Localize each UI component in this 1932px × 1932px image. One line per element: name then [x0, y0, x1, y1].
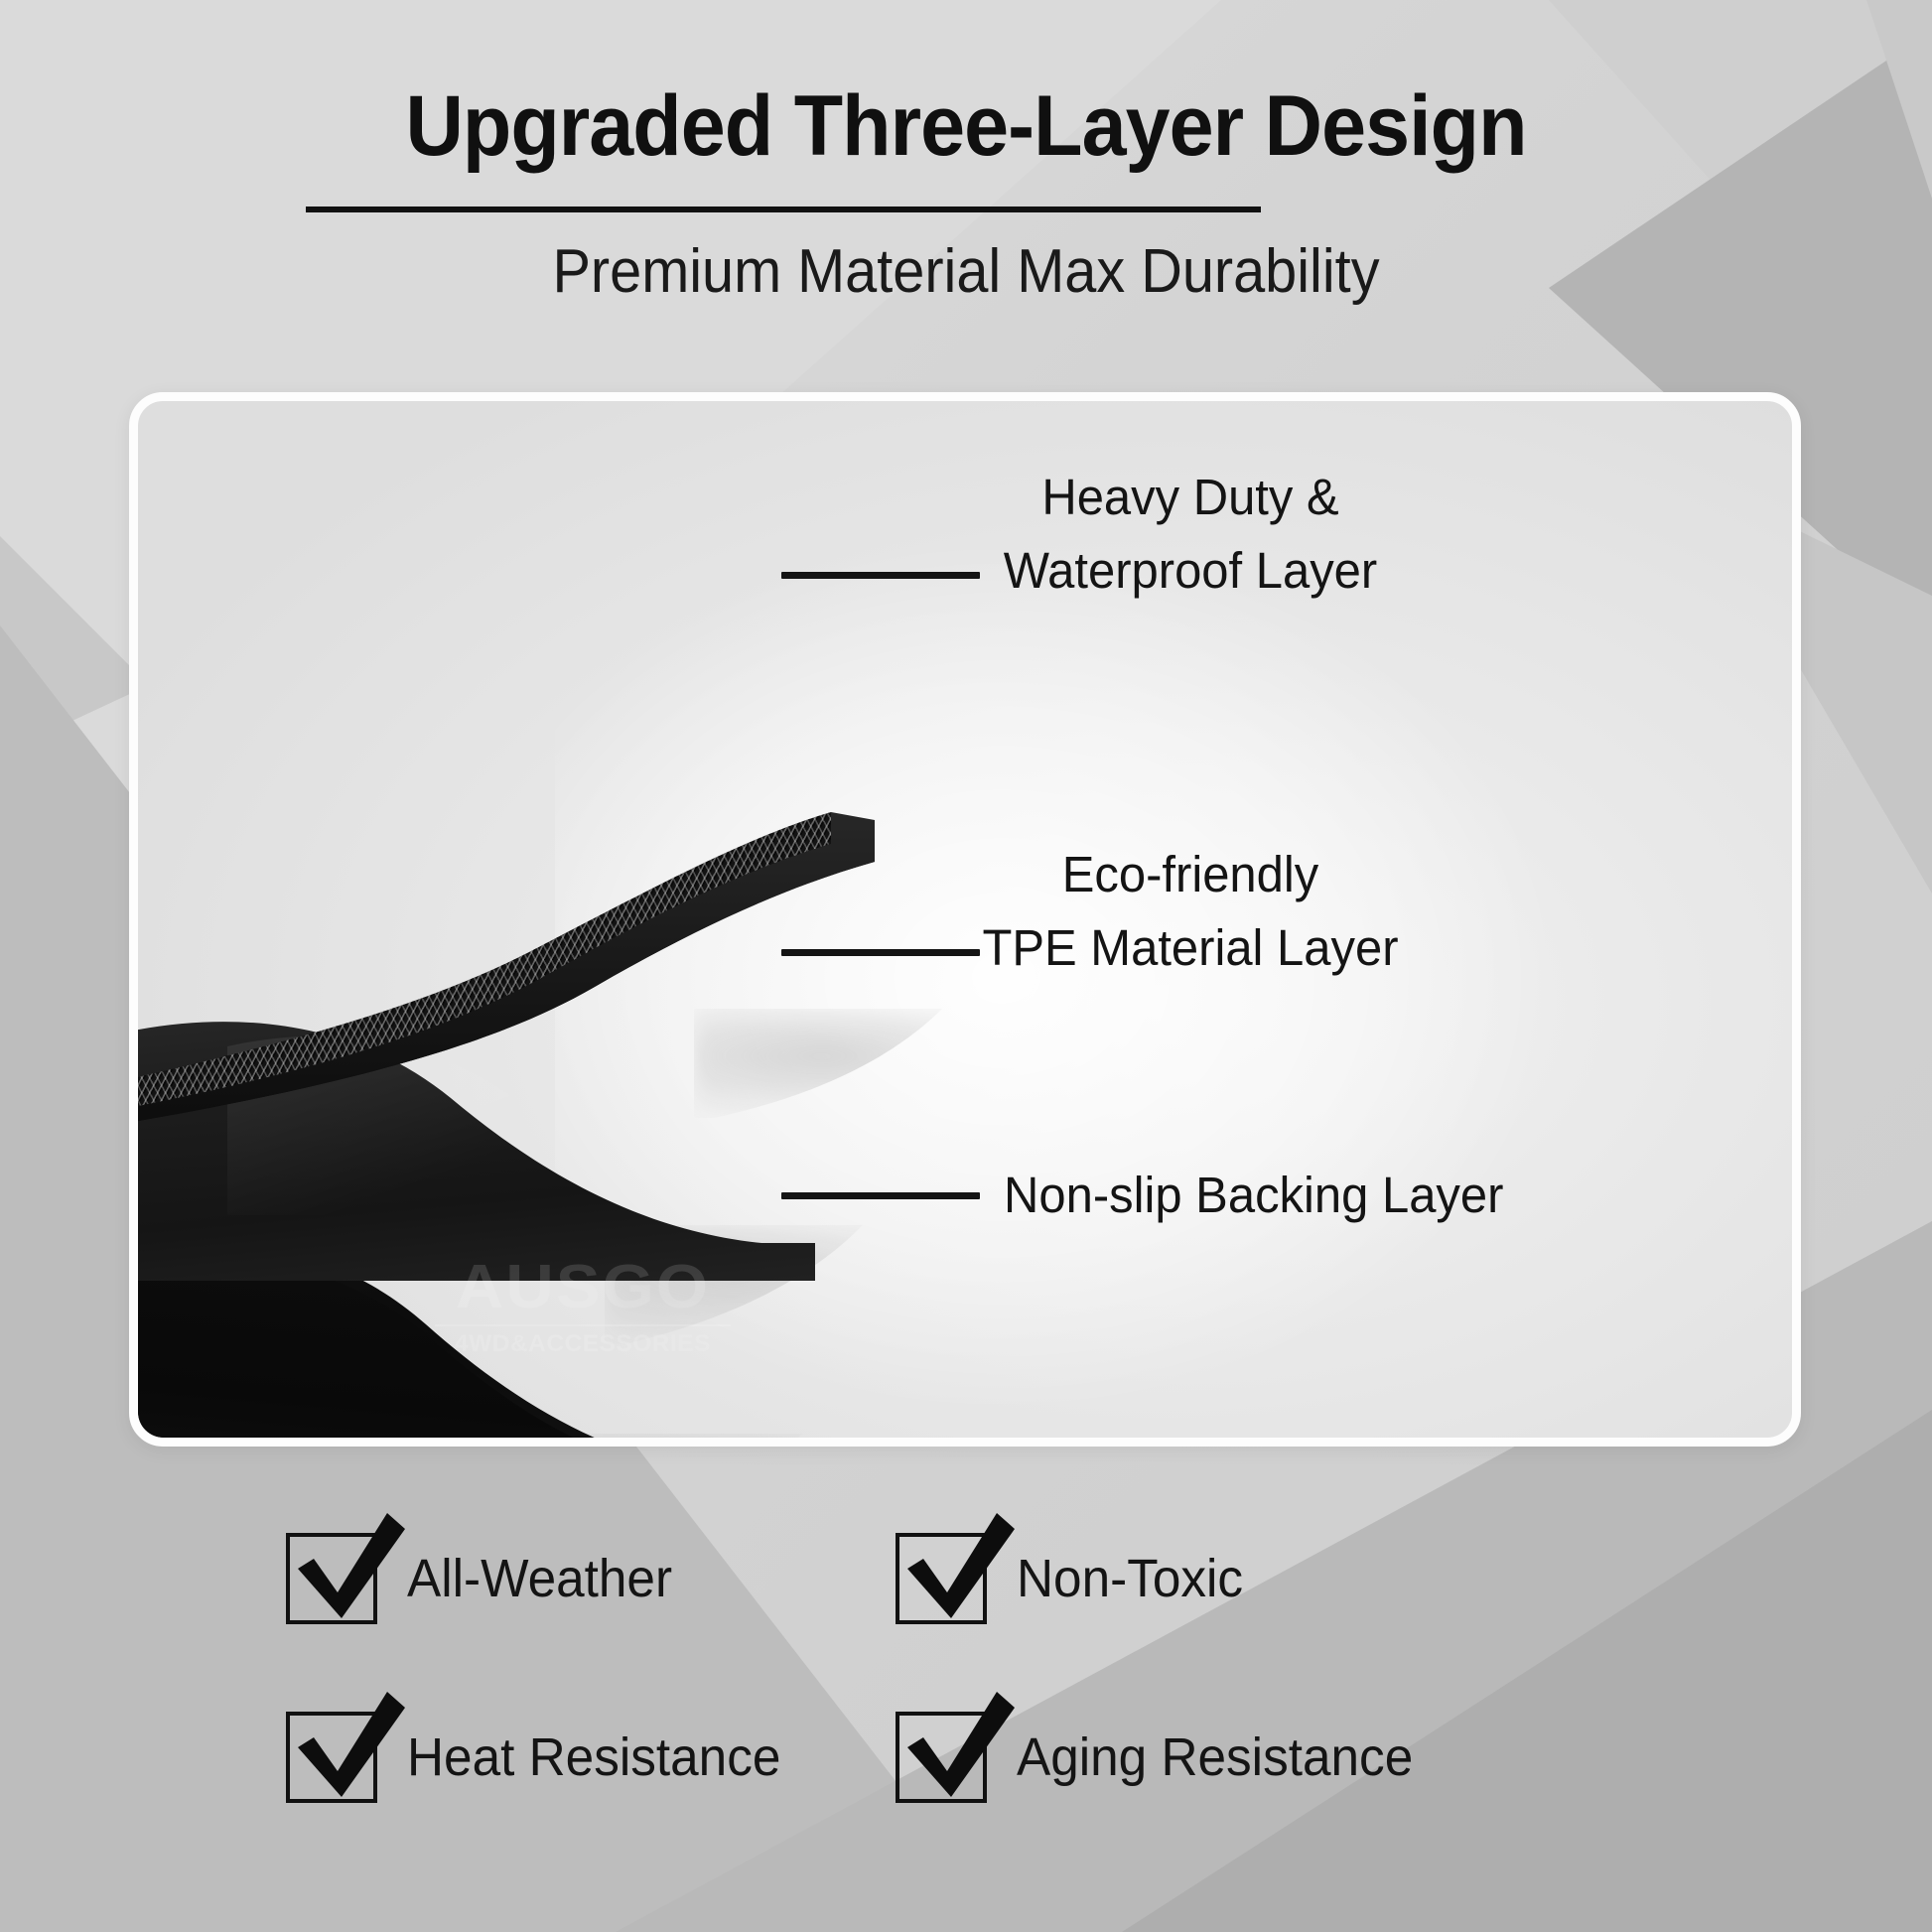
page-title: Upgraded Three-Layer Design — [58, 77, 1873, 176]
checkmark-icon — [284, 1507, 411, 1634]
feature-item-aging-resistance[interactable]: Aging Resistance — [896, 1712, 1434, 1803]
checkmark-icon — [894, 1686, 1021, 1813]
feature-label-all-weather: All-Weather — [407, 1548, 672, 1609]
card-inner: AUSGO 4WD&ACCESSORIES Heavy Duty & Water… — [138, 401, 1792, 1438]
checkbox-non-toxic[interactable] — [896, 1533, 987, 1624]
callout-label-2-line-2: TPE Material Layer — [923, 911, 1457, 985]
checkbox-heat-resistance[interactable] — [286, 1712, 377, 1803]
feature-label-non-toxic: Non-Toxic — [1017, 1548, 1243, 1609]
callout-label-3-line-1: Non-slip Backing Layer — [1004, 1159, 1503, 1232]
title-divider — [306, 207, 1261, 212]
feature-label-aging-resistance: Aging Resistance — [1017, 1726, 1413, 1788]
page-subtitle: Premium Material Max Durability — [68, 236, 1864, 307]
checkmark-icon — [284, 1686, 411, 1813]
feature-item-all-weather[interactable]: All-Weather — [286, 1533, 686, 1624]
callout-label-2-line-1: Eco-friendly — [923, 838, 1457, 911]
feature-item-non-toxic[interactable]: Non-Toxic — [896, 1533, 1255, 1624]
feature-label-heat-resistance: Heat Resistance — [407, 1726, 780, 1788]
callout-label-1-line-1: Heavy Duty & — [923, 461, 1457, 534]
feature-checklist: All-Weather Non-Toxic Heat Resistance — [0, 1519, 1932, 1916]
infographic-canvas: Upgraded Three-Layer Design Premium Mate… — [0, 0, 1932, 1932]
callout-label-1-line-2: Waterproof Layer — [923, 534, 1457, 608]
callout-connector-line-3 — [781, 1192, 980, 1199]
product-illustration-card: AUSGO 4WD&ACCESSORIES Heavy Duty & Water… — [129, 392, 1801, 1447]
checkbox-aging-resistance[interactable] — [896, 1712, 987, 1803]
checkmark-icon — [894, 1507, 1021, 1634]
feature-item-heat-resistance[interactable]: Heat Resistance — [286, 1712, 800, 1803]
checkbox-all-weather[interactable] — [286, 1533, 377, 1624]
